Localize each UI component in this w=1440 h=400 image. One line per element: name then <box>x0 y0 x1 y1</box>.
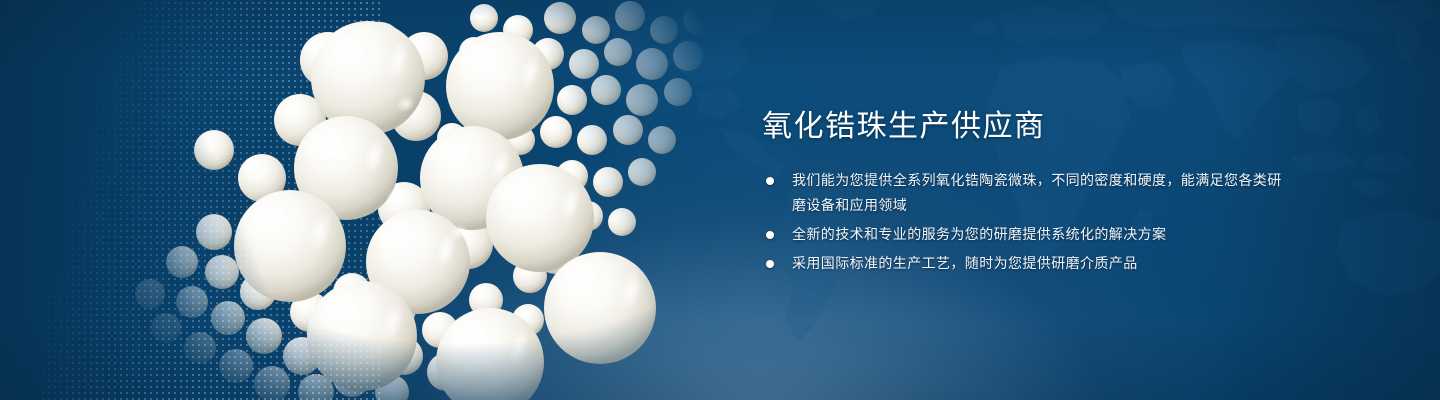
page-title: 氧化锆珠生产供应商 <box>762 108 1282 146</box>
feature-list: 我们能为您提供全系列氧化锆陶瓷微珠，不同的密度和硬度，能满足您各类研磨设备和应用… <box>762 168 1282 276</box>
banner-copy: 氧化锆珠生产供应商 我们能为您提供全系列氧化锆陶瓷微珠，不同的密度和硬度，能满足… <box>762 108 1282 280</box>
list-item-label: 我们能为您提供全系列氧化锆陶瓷微珠，不同的密度和硬度，能满足您各类研磨设备和应用… <box>792 168 1282 218</box>
bullet-dot-icon <box>766 260 774 268</box>
list-item: 全新的技术和专业的服务为您的研磨提供系统化的解决方案 <box>762 222 1282 247</box>
hero-banner: 氧化锆珠生产供应商 我们能为您提供全系列氧化锆陶瓷微珠，不同的密度和硬度，能满足… <box>0 0 1440 400</box>
list-item: 采用国际标准的生产工艺，随时为您提供研磨介质产品 <box>762 251 1282 276</box>
list-item-label: 采用国际标准的生产工艺，随时为您提供研磨介质产品 <box>792 251 1282 276</box>
list-item-label: 全新的技术和专业的服务为您的研磨提供系统化的解决方案 <box>792 222 1282 247</box>
bullet-dot-icon <box>766 177 774 185</box>
bullet-dot-icon <box>766 231 774 239</box>
list-item: 我们能为您提供全系列氧化锆陶瓷微珠，不同的密度和硬度，能满足您各类研磨设备和应用… <box>762 168 1282 218</box>
